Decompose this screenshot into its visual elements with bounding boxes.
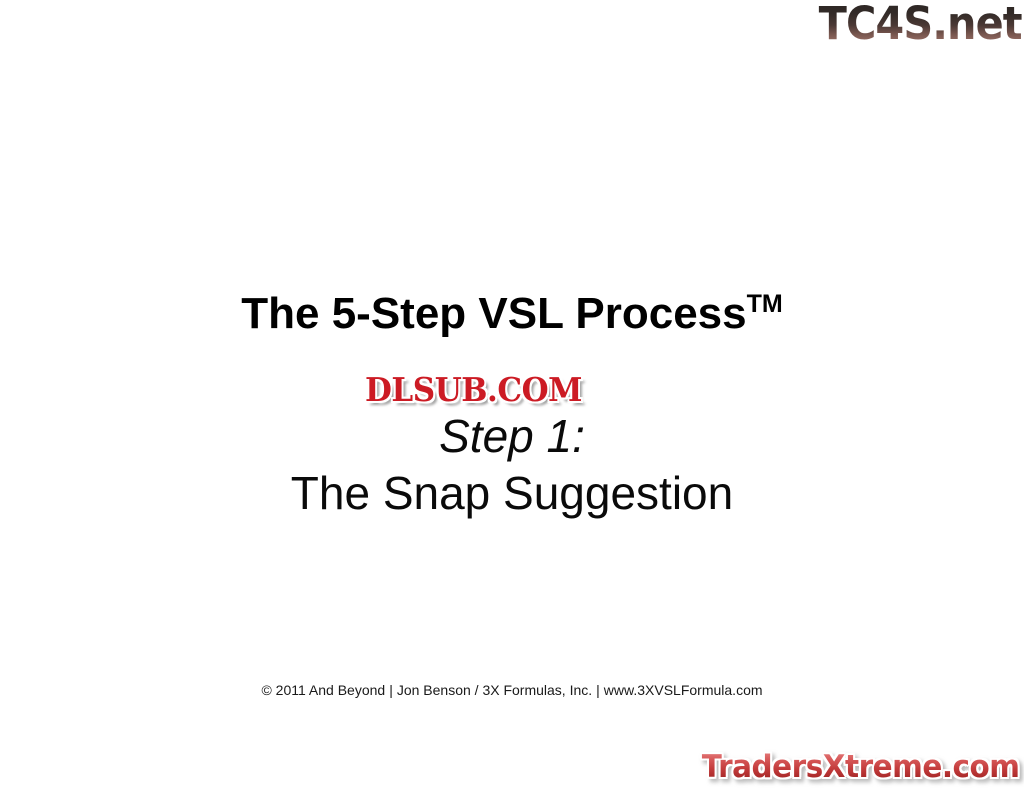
footer-separator-2: | [592,682,604,698]
footer-credit-line: © 2011 And Beyond|Jon Benson / 3X Formul… [0,681,1024,699]
footer-separator-1: | [385,682,397,698]
subtitle-step-label: Step 1: [0,408,1024,464]
page-title: The 5-Step VSL ProcessTM [0,278,1024,340]
footer-website: www.3XVSLFormula.com [604,682,763,698]
subtitle-block: Step 1: The Snap Suggestion [0,408,1024,522]
presentation-slide: TC4S.net The 5-Step VSL ProcessTM Step 1… [0,0,1024,791]
trademark-symbol: TM [747,290,783,318]
footer-copyright: © 2011 And Beyond [261,682,385,698]
dlsub-watermark: DLSUB.COM [365,372,582,408]
footer-author: Jon Benson / 3X Formulas, Inc. [397,682,592,698]
page-title-text: The 5-Step VSL Process [241,289,746,338]
tradersxtreme-watermark: TradersXtreme.com [702,748,1020,786]
subtitle-step-name: The Snap Suggestion [0,464,1024,522]
tc4s-brand-logo: TC4S.net [819,0,1022,50]
